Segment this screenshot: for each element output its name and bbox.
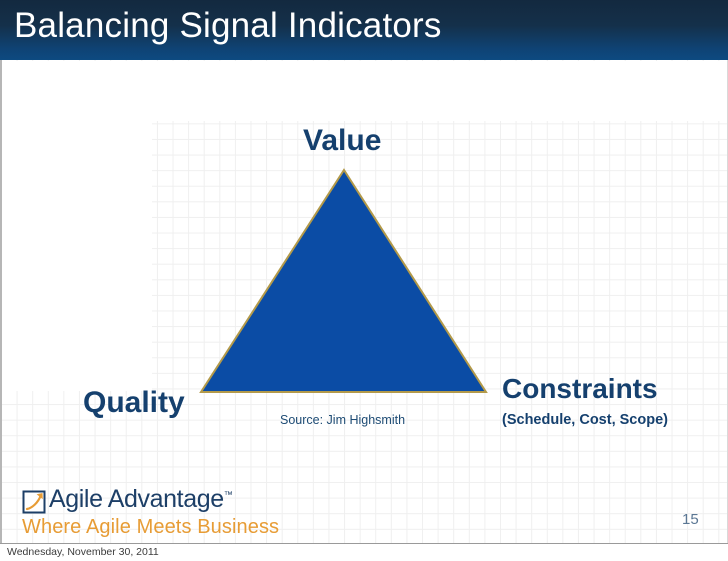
- page-number: 15: [682, 511, 699, 528]
- trademark-symbol: ™: [224, 490, 233, 500]
- vertex-sublabel-constraints: (Schedule, Cost, Scope): [502, 412, 668, 428]
- logo-name: Agile Advantage: [49, 485, 224, 513]
- footer-divider: [0, 543, 728, 544]
- page-title: Balancing Signal Indicators: [14, 6, 442, 46]
- source-note: Source: Jim Highsmith: [280, 413, 405, 427]
- vertex-label-value: Value: [303, 124, 381, 158]
- footer-date: Wednesday, November 30, 2011: [7, 546, 159, 558]
- vertex-label-quality: Quality: [83, 386, 185, 420]
- grid-mask-top: [150, 61, 728, 121]
- logo-wordmark: Agile Advantage™: [49, 485, 232, 514]
- grid-mask-left: [2, 61, 152, 391]
- slide-left-border: [0, 60, 2, 544]
- slide-title-bar: Balancing Signal Indicators: [0, 0, 728, 60]
- vertex-label-constraints: Constraints: [502, 373, 658, 405]
- logo: Agile Advantage™ Where Agile Meets Busin…: [22, 488, 242, 540]
- logo-tagline: Where Agile Meets Business: [22, 516, 279, 539]
- slide: Balancing Signal Indicators Value Qualit…: [0, 0, 728, 561]
- agile-advantage-arrow-icon: [22, 490, 46, 514]
